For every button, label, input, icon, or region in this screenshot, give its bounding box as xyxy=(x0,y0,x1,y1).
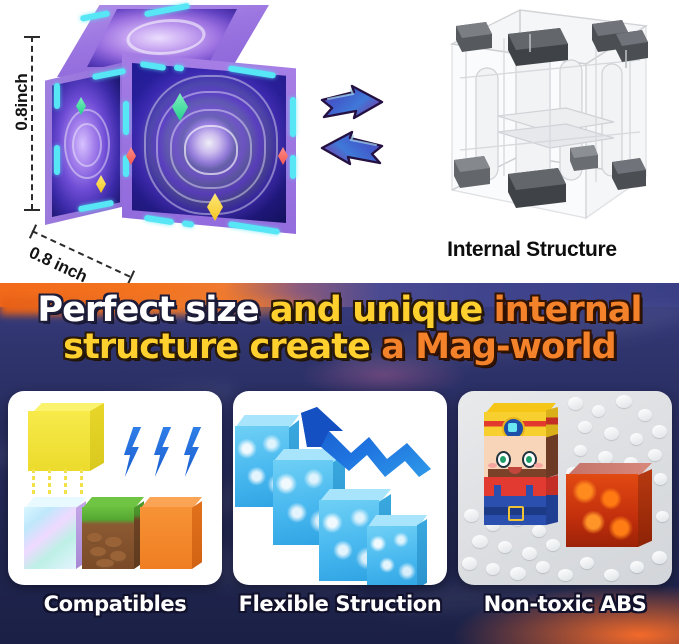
cyan-accent-bar xyxy=(54,145,60,175)
magnetic-cube-product xyxy=(32,5,302,237)
feature-card-image-flexible xyxy=(233,391,447,585)
internal-structure-diagram xyxy=(400,4,662,232)
magnet-bolt-icons xyxy=(120,427,208,479)
character-belt-buckle xyxy=(508,506,524,521)
headline-segment-yellow-2: structure create xyxy=(63,330,370,366)
orange-cube xyxy=(140,497,202,569)
grass-cube xyxy=(82,497,144,569)
yellow-cube xyxy=(28,403,104,471)
headline-segment-white: Perfect size xyxy=(37,293,258,329)
feature-label-compatibles: Compatibles xyxy=(8,592,222,616)
character-eye-left xyxy=(496,451,511,468)
bolt-icon xyxy=(120,427,142,477)
cube-front-ring-4 xyxy=(184,125,238,175)
feature-label-flexible-struction: Flexible Struction xyxy=(233,592,447,616)
height-dimension-label: 0.8inch xyxy=(12,67,32,137)
headline-line-2: structure create a Mag-world xyxy=(0,330,679,366)
headline-block: Perfect size and unique internal structu… xyxy=(0,293,679,365)
character-cheek-left xyxy=(488,463,497,468)
feature-label-non-toxic-abs: Non-toxic ABS xyxy=(458,592,672,616)
width-dimension-label: 0.8 inch xyxy=(26,243,90,283)
feature-card-image-compatibles xyxy=(8,391,222,585)
cube-left-ring-2 xyxy=(72,123,102,167)
crystal-cube xyxy=(24,497,86,569)
character-strap-right xyxy=(526,485,533,507)
lava-cube-side xyxy=(638,469,652,547)
grass-cube-front xyxy=(82,507,134,569)
arrow-left-icon xyxy=(322,132,382,164)
bolt-icon xyxy=(180,427,202,477)
features-banner-section: Perfect size and unique internal structu… xyxy=(0,283,679,644)
feature-card-flexible-struction[interactable]: Flexible Struction xyxy=(233,391,447,616)
yellow-cube-side xyxy=(90,403,104,471)
product-infographic: 0.8inch 0.8 inch xyxy=(0,0,679,644)
headline-segment-orange: internal xyxy=(494,293,642,329)
feature-cards-row: Compatibles xyxy=(0,391,679,644)
cyan-accent-bar xyxy=(290,155,296,179)
cyan-accent-bar xyxy=(54,83,60,109)
character-body-side xyxy=(546,475,558,525)
crystal-cube-front xyxy=(24,507,76,569)
feature-card-compatibles[interactable]: Compatibles xyxy=(8,391,222,616)
feature-card-image-abs xyxy=(458,391,672,585)
orange-cube-front xyxy=(140,507,192,569)
headline-line-1: Perfect size and unique internal xyxy=(0,293,679,329)
headline-segment-orange-2: a Mag-world xyxy=(381,330,616,366)
hat-side xyxy=(546,407,558,438)
arrow-right-icon xyxy=(322,86,382,118)
yellow-cube-front xyxy=(28,411,90,471)
zigzag-arrow-icon xyxy=(295,403,437,485)
boy-character-cube xyxy=(480,403,560,525)
cyan-accent-bar xyxy=(290,97,296,137)
cyan-accent-bar xyxy=(182,220,195,228)
lava-cube-front xyxy=(566,474,638,547)
character-strap-left xyxy=(494,485,501,507)
internal-structure-caption: Internal Structure xyxy=(398,238,666,262)
lava-cube xyxy=(566,463,652,547)
headline-segment-yellow: and unique xyxy=(270,293,482,329)
character-hat xyxy=(480,403,560,437)
ice-cube-step-4 xyxy=(367,515,427,585)
top-product-section: 0.8inch 0.8 inch xyxy=(0,0,679,283)
cyan-accent-bar xyxy=(123,101,129,135)
character-head-side xyxy=(546,434,558,478)
feature-card-non-toxic-abs[interactable]: Non-toxic ABS xyxy=(458,391,672,616)
bolt-icon xyxy=(150,427,172,477)
orange-cube-side xyxy=(192,501,202,569)
transfer-arrows-group xyxy=(320,84,392,170)
compatible-cubes-row xyxy=(24,491,210,569)
character-cheek-right xyxy=(534,463,543,468)
